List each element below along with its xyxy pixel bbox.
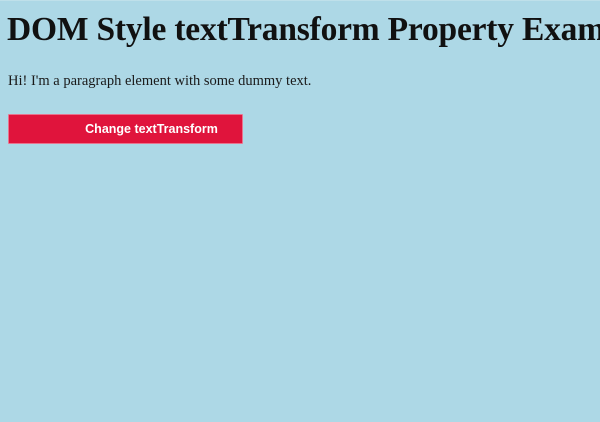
- demo-paragraph: Hi! I'm a paragraph element with some du…: [8, 72, 311, 90]
- change-texttransform-button[interactable]: Change textTransform: [8, 114, 243, 144]
- page-title: DOM Style textTransform Property Example: [7, 10, 597, 50]
- top-edge-hairline: [0, 0, 600, 1]
- page-root: DOM Style textTransform Property Example…: [0, 0, 600, 422]
